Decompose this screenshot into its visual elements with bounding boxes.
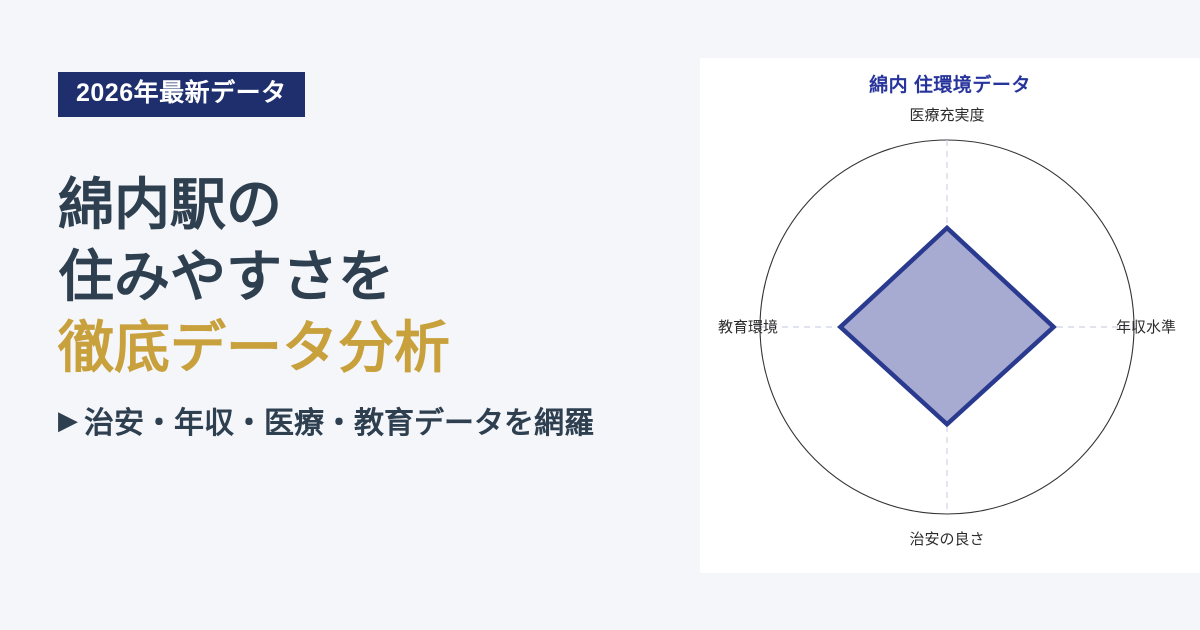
page-title: 綿内駅の 住みやすさを 徹底データ分析 — [58, 169, 700, 384]
headline-line-2: 住みやすさを — [58, 241, 700, 313]
subtitle-label: 治安・年収・医療・教育データを網羅 — [84, 398, 594, 442]
headline-line-3-accent: 徹底データ分析 — [58, 312, 700, 384]
headline-line-1: 綿内駅の — [58, 169, 700, 241]
radar-chart: 医療充実度 年収水準 治安の良さ 教育環境 — [700, 58, 1200, 573]
radar-chart-card: 綿内 住環境データ 医療充実度 年収水準 治安の良さ 教育環境 — [700, 58, 1200, 573]
axis-label-safety: 治安の良さ — [909, 531, 984, 548]
hero-left-panel: 2026年最新データ 綿内駅の 住みやすさを 徹底データ分析 ▶ 治安・年収・医… — [0, 0, 700, 630]
axis-label-income: 年収水準 — [1116, 319, 1176, 336]
subtitle: ▶ 治安・年収・医療・教育データを網羅 — [58, 398, 700, 442]
triangle-marker-icon: ▶ — [58, 407, 78, 433]
year-badge: 2026年最新データ — [58, 72, 305, 117]
axis-label-medical: 医療充実度 — [909, 107, 984, 124]
radar-data-polygon — [840, 228, 1053, 424]
axis-label-education: 教育環境 — [718, 318, 778, 336]
